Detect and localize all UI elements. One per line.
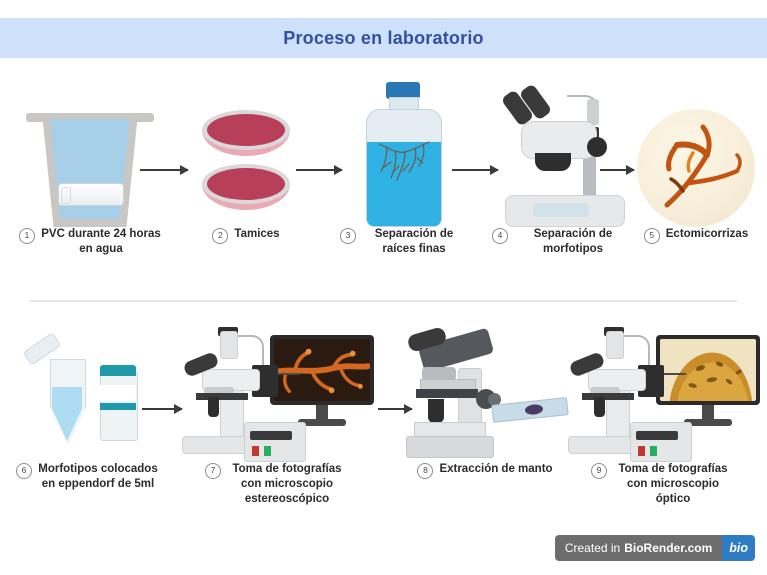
- monitor-image-mantle: [660, 339, 756, 401]
- eppendorf-and-vial-icon: [22, 337, 152, 462]
- step-6-caption: 6 Morfotipos colocados en eppendorf de 5…: [16, 462, 158, 492]
- step-4-caption: 4 Separación de morfotipos: [492, 227, 632, 257]
- step-6-artwork: [22, 312, 152, 462]
- stereoscopic-microscope-icon: [495, 77, 630, 227]
- step-9-artwork: [564, 312, 760, 462]
- arrow-6-to-7: [142, 408, 182, 410]
- step-4[interactable]: 4 Separación de morfotipos: [492, 62, 632, 257]
- step-2[interactable]: 2 Tamices: [186, 62, 306, 244]
- step-8-label: Extracción de manto: [439, 462, 552, 477]
- control-box: [244, 422, 306, 462]
- step-8[interactable]: 8 Extracción de manto: [404, 312, 566, 479]
- step-2-caption: 2 Tamices: [212, 227, 279, 244]
- step-4-label: Separación de morfotipos: [514, 227, 632, 257]
- pvc-tube-icon: [58, 183, 124, 206]
- step-9[interactable]: 9 Toma de fotografías con microscopio óp…: [562, 312, 762, 508]
- title-banner: Proceso en laboratorio: [0, 18, 767, 58]
- step-6-label: Morfotipos colocados en eppendorf de 5ml: [38, 462, 158, 492]
- ectomycorrhiza-photo-icon: [637, 109, 755, 227]
- step-3-caption: 3 Separación de raíces finas: [340, 227, 466, 257]
- step-4-artwork: [495, 62, 630, 227]
- step-6[interactable]: 6 Morfotipos colocados en eppendorf de 5…: [12, 312, 162, 492]
- process-row-1: 1 PVC durante 24 horas en agua 2 Tamices: [0, 62, 767, 300]
- step-7-label: Toma de fotografías con microscopio este…: [227, 462, 347, 508]
- bucket-icon: [30, 97, 150, 227]
- step-5-number: 5: [644, 228, 660, 244]
- step-2-number: 2: [212, 228, 228, 244]
- microscope-monitor-rig-icon-2: [564, 327, 760, 462]
- biorender-logo: bio: [722, 535, 755, 561]
- root-sketch-icon: [375, 136, 433, 188]
- step-1-artwork: [30, 62, 150, 227]
- step-6-number: 6: [16, 463, 32, 479]
- step-5-label: Ectomicorrizas: [666, 227, 748, 242]
- watermark-brand: BioRender.com: [624, 541, 712, 555]
- control-box-2: [630, 422, 692, 462]
- eppendorf-tube-icon: [50, 359, 84, 443]
- step-8-number: 8: [417, 463, 433, 479]
- row-divider: [30, 300, 737, 302]
- monitor-optical: [656, 335, 760, 405]
- step-2-label: Tamices: [234, 227, 279, 242]
- monitor-stereoscopic: [270, 335, 374, 405]
- step-3-artwork: [360, 62, 446, 227]
- step-9-label: Toma de fotografías con microscopio ópti…: [613, 462, 733, 508]
- process-row-2: 6 Morfotipos colocados en eppendorf de 5…: [0, 312, 767, 537]
- microscope-monitor-rig-icon: [178, 327, 374, 462]
- step-7-caption: 7 Toma de fotografías con microscopio es…: [205, 462, 347, 508]
- page-title: Proceso en laboratorio: [283, 28, 483, 49]
- petri-dish-icon: [198, 102, 294, 227]
- microscope-slide-icon: [491, 397, 568, 423]
- ectomycorrhiza-branches: [637, 109, 755, 227]
- biorender-watermark[interactable]: Created in BioRender.com bio: [555, 535, 755, 561]
- step-5-caption: 5 Ectomicorrizas: [644, 227, 748, 244]
- light-microscope-icon: [400, 327, 570, 462]
- step-3[interactable]: 3 Separación de raíces finas: [340, 62, 466, 257]
- step-7[interactable]: 7 Toma de fotografías con microscopio es…: [178, 312, 374, 508]
- watermark-prefix: Created in: [565, 541, 620, 555]
- step-3-label: Separación de raíces finas: [362, 227, 466, 257]
- step-1[interactable]: 1 PVC durante 24 horas en agua: [10, 62, 170, 257]
- step-3-number: 3: [340, 228, 356, 244]
- watermark-text: Created in BioRender.com: [555, 535, 722, 561]
- step-2-artwork: [198, 62, 294, 227]
- step-7-artwork: [178, 312, 374, 462]
- reagent-bottle-icon: [360, 82, 446, 227]
- monitor-image-roots: [274, 339, 370, 401]
- step-8-caption: 8 Extracción de manto: [417, 462, 552, 479]
- step-7-number: 7: [205, 463, 221, 479]
- arrow-2-to-3: [296, 169, 342, 171]
- arrow-1-to-2: [140, 169, 188, 171]
- step-1-label: PVC durante 24 horas en agua: [41, 227, 161, 257]
- step-5-artwork: [637, 62, 755, 227]
- step-9-number: 9: [591, 463, 607, 479]
- step-8-artwork: [400, 312, 570, 462]
- step-9-caption: 9 Toma de fotografías con microscopio óp…: [591, 462, 733, 508]
- step-5[interactable]: 5 Ectomicorrizas: [628, 62, 764, 244]
- step-1-caption: 1 PVC durante 24 horas en agua: [19, 227, 161, 257]
- step-1-number: 1: [19, 228, 35, 244]
- step-4-number: 4: [492, 228, 508, 244]
